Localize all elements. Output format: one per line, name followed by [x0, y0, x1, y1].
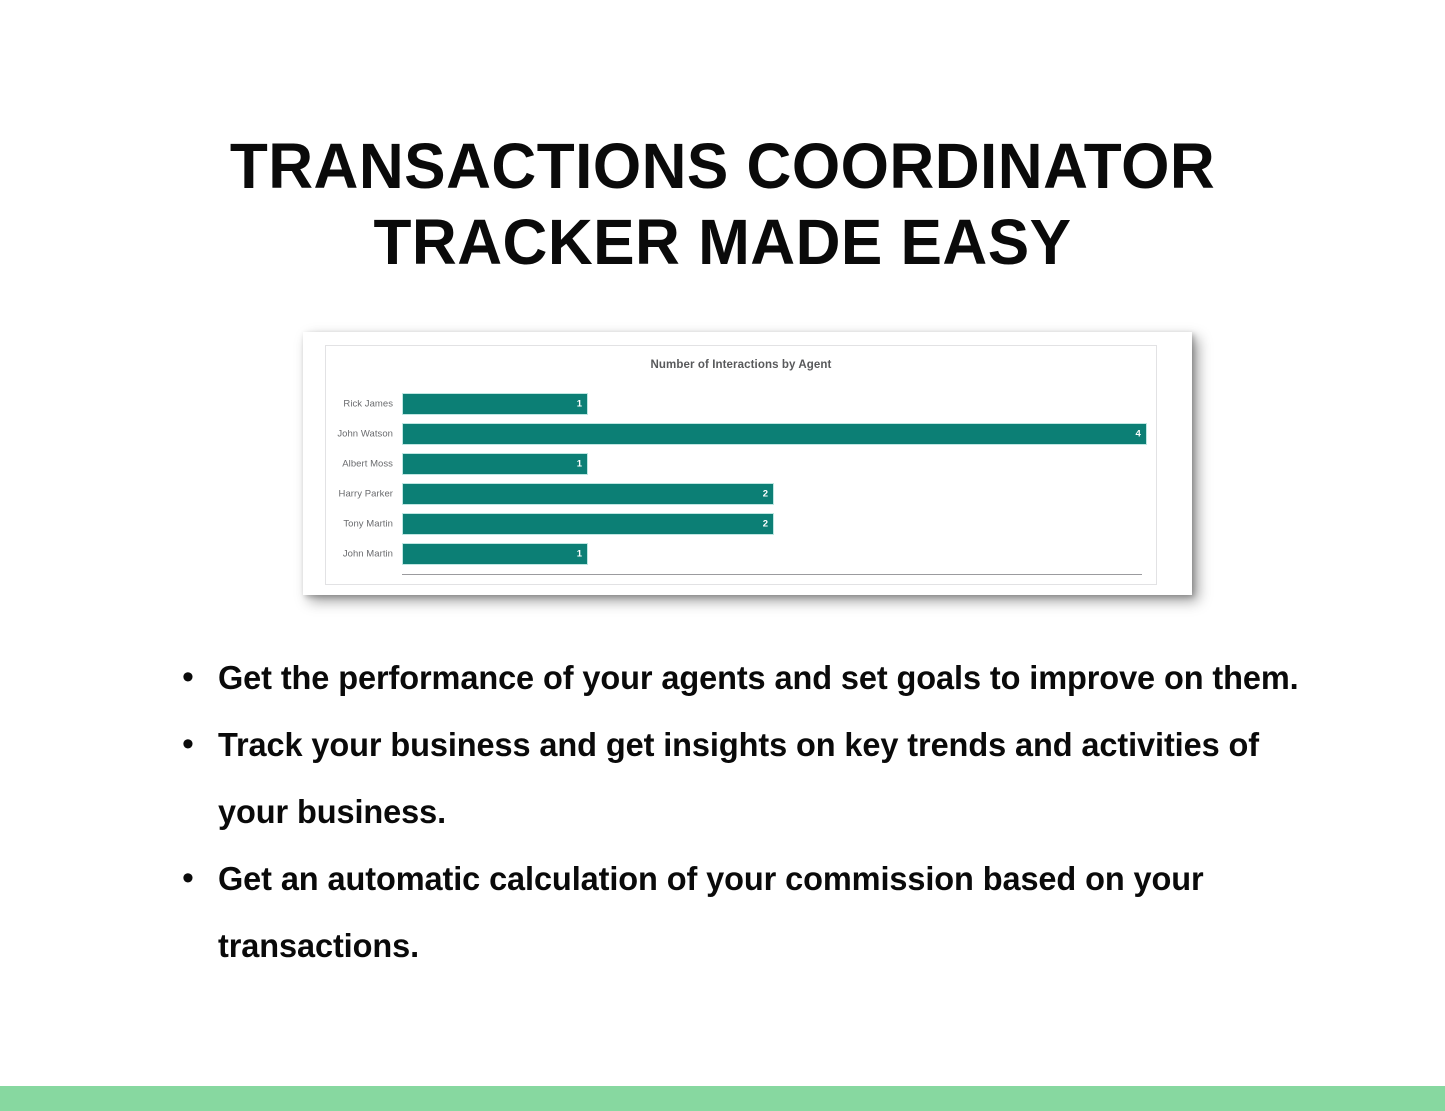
bar-value-label: 4	[1135, 429, 1140, 439]
page-title: TRANSACTIONS COORDINATOR TRACKER MADE EA…	[120, 128, 1325, 280]
bar-category-label: John Martin	[326, 549, 393, 560]
bar-fill: 2	[402, 483, 774, 505]
bullet-marker-icon: •	[172, 711, 218, 778]
bar-fill: 1	[402, 543, 588, 565]
chart-axis-baseline	[402, 574, 1142, 575]
bar-category-label: Tony Martin	[326, 519, 393, 530]
list-item-text: Get the performance of your agents and s…	[218, 644, 1330, 711]
bar-row: Harry Parker 2	[326, 479, 1156, 509]
bar-track: 1	[402, 393, 1152, 415]
bar-category-label: Albert Moss	[326, 459, 393, 470]
bullet-marker-icon: •	[172, 845, 218, 912]
chart-title: Number of Interactions by Agent	[326, 359, 1156, 371]
bar-track: 1	[402, 453, 1152, 475]
bar-row: John Watson 4	[326, 419, 1156, 449]
page-title-line-2: TRACKER MADE EASY	[138, 204, 1307, 280]
bar-value-label: 1	[577, 549, 582, 559]
bar-value-label: 1	[577, 459, 582, 469]
bar-category-label: Harry Parker	[326, 489, 393, 500]
bar-fill: 4	[402, 423, 1147, 445]
bar-fill: 1	[402, 393, 588, 415]
bar-track: 2	[402, 483, 1152, 505]
list-item-text: Get an automatic calculation of your com…	[218, 845, 1330, 979]
bullet-marker-icon: •	[172, 644, 218, 711]
list-item: • Track your business and get insights o…	[172, 711, 1347, 845]
bar-category-label: John Watson	[326, 429, 393, 440]
bar-track: 4	[402, 423, 1152, 445]
bar-category-label: Rick James	[326, 399, 393, 410]
chart-card: Number of Interactions by Agent Rick Jam…	[303, 332, 1192, 595]
bar-value-label: 1	[577, 399, 582, 409]
bar-row: John Martin 1	[326, 539, 1156, 569]
list-item-text: Track your business and get insights on …	[218, 711, 1330, 845]
list-item: • Get an automatic calculation of your c…	[172, 845, 1347, 979]
bar-chart-plot: Rick James 1 John Watson 4	[326, 389, 1156, 584]
page-title-line-1: TRANSACTIONS COORDINATOR	[138, 128, 1307, 204]
bar-track: 2	[402, 513, 1152, 535]
bar-value-label: 2	[763, 519, 768, 529]
list-item: • Get the performance of your agents and…	[172, 644, 1347, 711]
bar-fill: 1	[402, 453, 588, 475]
bar-track: 1	[402, 543, 1152, 565]
bar-row: Albert Moss 1	[326, 449, 1156, 479]
bar-value-label: 2	[763, 489, 768, 499]
bar-row: Rick James 1	[326, 389, 1156, 419]
feature-bullet-list: • Get the performance of your agents and…	[172, 644, 1347, 979]
bar-row: Tony Martin 2	[326, 509, 1156, 539]
footer-accent-bar	[0, 1086, 1445, 1111]
chart-container: Number of Interactions by Agent Rick Jam…	[325, 345, 1157, 585]
bar-fill: 2	[402, 513, 774, 535]
slide-root: TRANSACTIONS COORDINATOR TRACKER MADE EA…	[0, 0, 1445, 1111]
